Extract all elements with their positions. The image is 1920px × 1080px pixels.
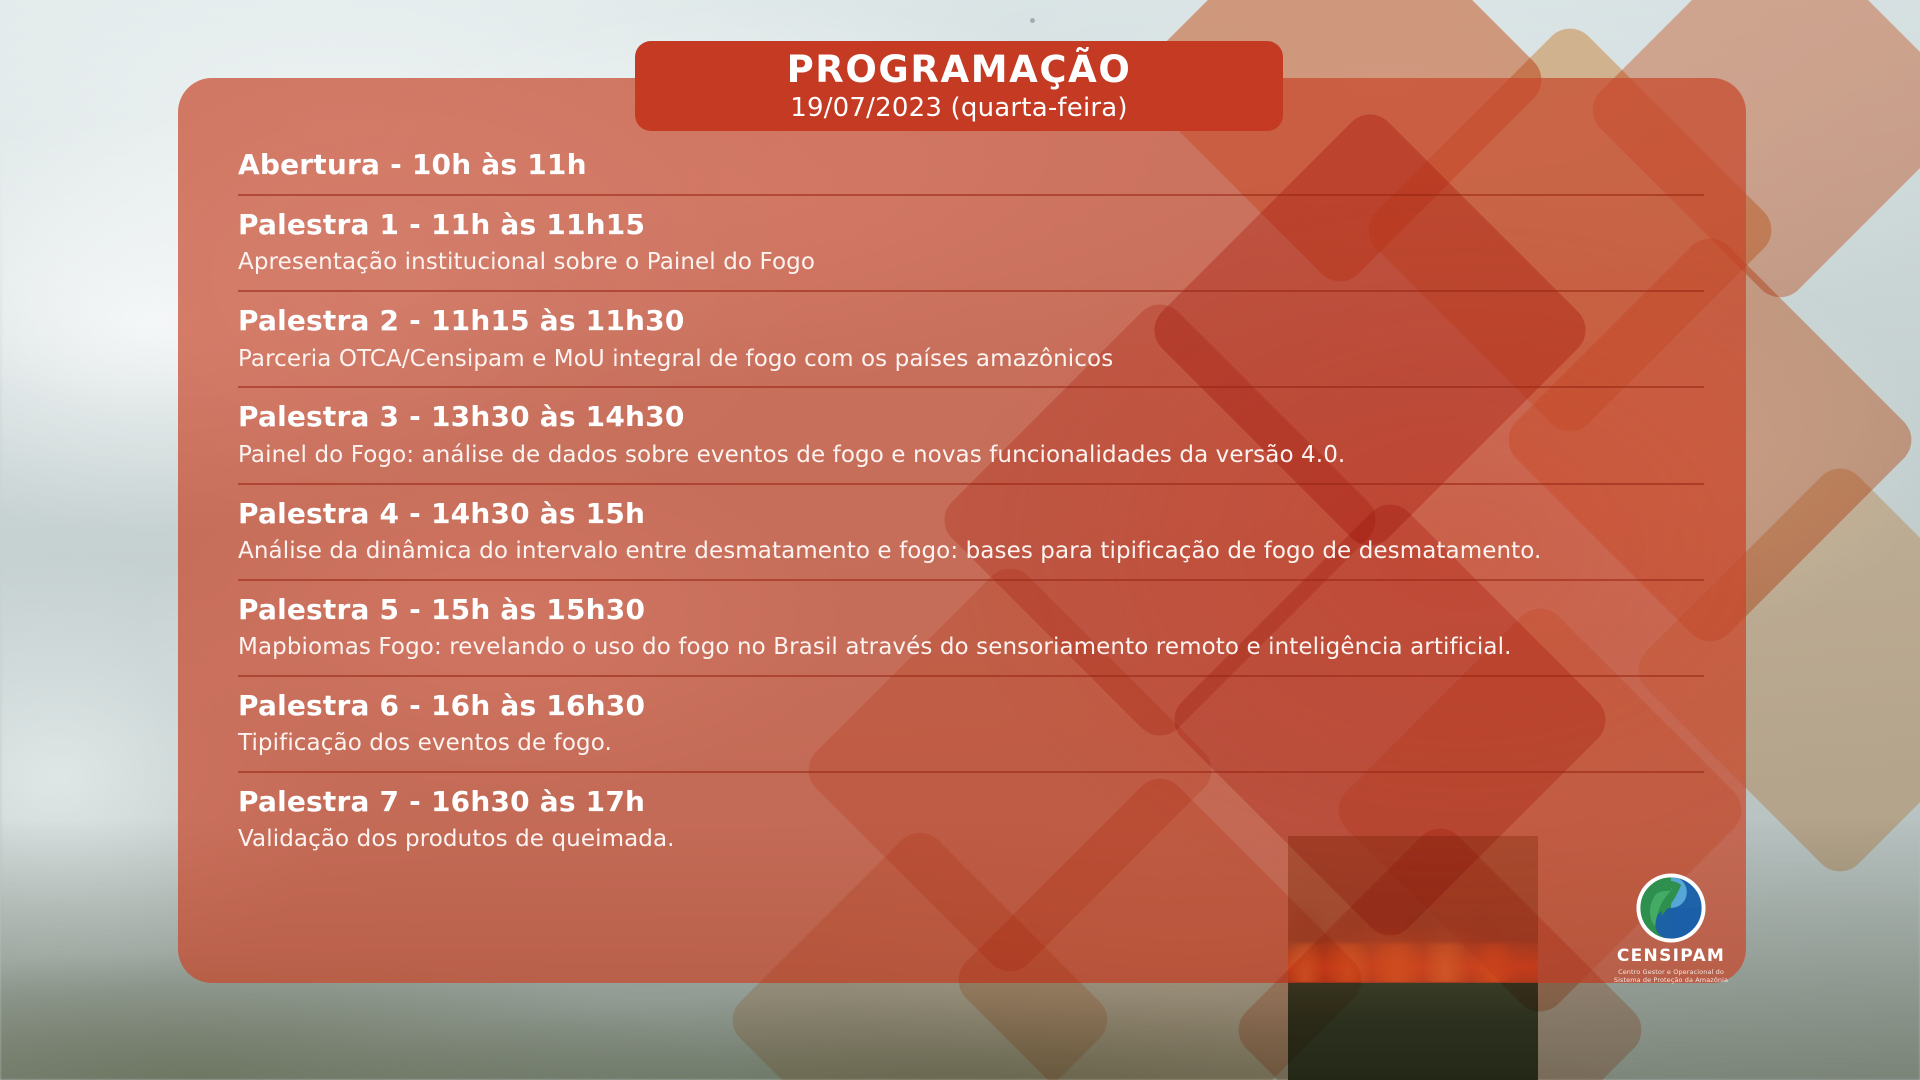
agenda-item-description: Painel do Fogo: análise de dados sobre e…	[238, 433, 1704, 483]
agenda-item-description: Mapbiomas Fogo: revelando o uso do fogo …	[238, 625, 1704, 675]
agenda-item-description: Parceria OTCA/Censipam e MoU integral de…	[238, 337, 1704, 387]
agenda-item-title: Palestra 2 - 11h15 às 11h30	[238, 292, 1704, 336]
agenda-item-title: Palestra 1 - 11h às 11h15	[238, 196, 1704, 240]
agenda-item-title: Palestra 3 - 13h30 às 14h30	[238, 388, 1704, 432]
agenda-item-title: Abertura - 10h às 11h	[238, 136, 1704, 194]
program-date: 19/07/2023 (quarta-feira)	[790, 95, 1128, 121]
agenda-item: Palestra 6 - 16h às 16h30 Tipificação do…	[238, 675, 1704, 771]
agenda-item-title: Palestra 4 - 14h30 às 15h	[238, 485, 1704, 529]
agenda-item: Palestra 7 - 16h30 às 17h Validação dos …	[238, 771, 1704, 867]
agenda-item: Palestra 3 - 13h30 às 14h30 Painel do Fo…	[238, 386, 1704, 482]
censipam-wordmark: CENSIPAM	[1612, 948, 1730, 965]
program-header-banner: PROGRAMAÇÃO 19/07/2023 (quarta-feira)	[635, 41, 1283, 131]
censipam-tagline: Centro Gestor e Operacional do Sistema d…	[1612, 968, 1730, 984]
censipam-logo: CENSIPAM Centro Gestor e Operacional do …	[1612, 872, 1730, 984]
agenda-item-description: Tipificação dos eventos de fogo.	[238, 721, 1704, 771]
agenda-list: Abertura - 10h às 11h Palestra 1 - 11h à…	[238, 136, 1704, 867]
page-title: PROGRAMAÇÃO	[787, 51, 1132, 88]
background-speck	[1030, 18, 1035, 23]
agenda-item-description: Análise da dinâmica do intervalo entre d…	[238, 529, 1704, 579]
agenda-item-title: Palestra 7 - 16h30 às 17h	[238, 773, 1704, 817]
agenda-item-description: Apresentação institucional sobre o Paine…	[238, 240, 1704, 290]
agenda-item: Palestra 2 - 11h15 às 11h30 Parceria OTC…	[238, 290, 1704, 386]
agenda-item: Abertura - 10h às 11h	[238, 136, 1704, 194]
agenda-item-description: Validação dos produtos de queimada.	[238, 817, 1704, 867]
program-slide: PROGRAMAÇÃO 19/07/2023 (quarta-feira) Ab…	[0, 0, 1920, 1080]
agenda-item: Palestra 4 - 14h30 às 15h Análise da din…	[238, 483, 1704, 579]
agenda-item: Palestra 1 - 11h às 11h15 Apresentação i…	[238, 194, 1704, 290]
agenda-item: Palestra 5 - 15h às 15h30 Mapbiomas Fogo…	[238, 579, 1704, 675]
agenda-item-title: Palestra 6 - 16h às 16h30	[238, 677, 1704, 721]
agenda-item-title: Palestra 5 - 15h às 15h30	[238, 581, 1704, 625]
censipam-leaf-swirl-icon	[1635, 872, 1707, 944]
